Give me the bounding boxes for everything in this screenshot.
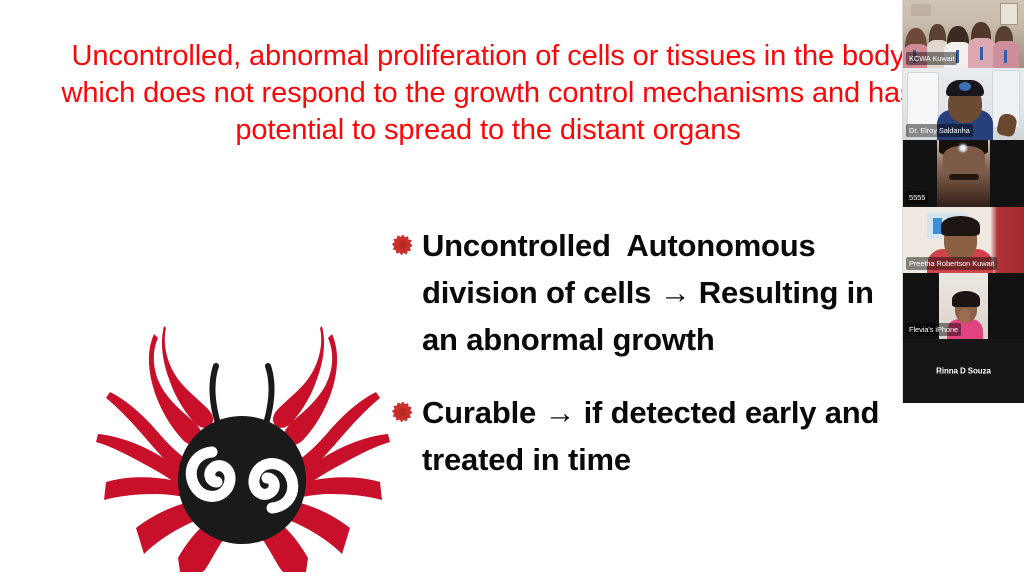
video-tile-5555[interactable]: 5555 [903,140,1024,207]
person-hair [952,291,980,307]
cancer-crab-zodiac-symbol [92,322,392,572]
presentation-screen: Uncontrolled, abnormal proliferation of … [0,0,1024,576]
person-eyebrows [949,174,979,180]
lanyard [1004,50,1007,63]
red-starburst-bullet-icon [392,234,414,256]
video-participant-panel[interactable]: KCWA Kuwait Dr. Elroy Saldanha 5555 [902,0,1024,403]
participant-name: Rinna D Souza [903,365,1024,378]
decor-shelf [911,4,931,16]
list-item: Uncontrolled Autonomous division of cell… [392,222,897,363]
participant-name: Flevia's iPhone [906,323,961,336]
participant-name: KCWA Kuwait [906,52,957,65]
video-tile-dr-elroy-saldanha[interactable]: Dr. Elroy Saldanha [903,68,1024,140]
slide-heading: Uncontrolled, abnormal proliferation of … [18,38,903,149]
decor-frame [1000,3,1018,25]
participant-name: Preetha Robertson Kuwait [906,257,997,270]
cap-logo [959,82,971,91]
person-hair [941,216,980,236]
bullet-text: Curable → if detected early and treated … [422,389,897,483]
lanyard [980,47,983,60]
person-hand [959,309,970,323]
video-tile-flevias-iphone[interactable]: Flevia's iPhone [903,273,1024,339]
red-starburst-bullet-icon [392,401,414,423]
participant-name: Dr. Elroy Saldanha [906,124,973,137]
slide-content: Uncontrolled, abnormal proliferation of … [0,0,903,576]
light-reflection [959,144,967,152]
video-tile-preetha-robertson-kuwait[interactable]: Preetha Robertson Kuwait [903,207,1024,273]
video-tile-kcwa-kuwait[interactable]: KCWA Kuwait [903,0,1024,68]
participant-name: 5555 [906,191,928,204]
bullet-list: Uncontrolled Autonomous division of cell… [392,222,897,509]
video-tile-rinna-d-souza[interactable]: Rinna D Souza [903,339,1024,403]
list-item: Curable → if detected early and treated … [392,389,897,483]
bullet-text: Uncontrolled Autonomous division of cell… [422,222,897,363]
